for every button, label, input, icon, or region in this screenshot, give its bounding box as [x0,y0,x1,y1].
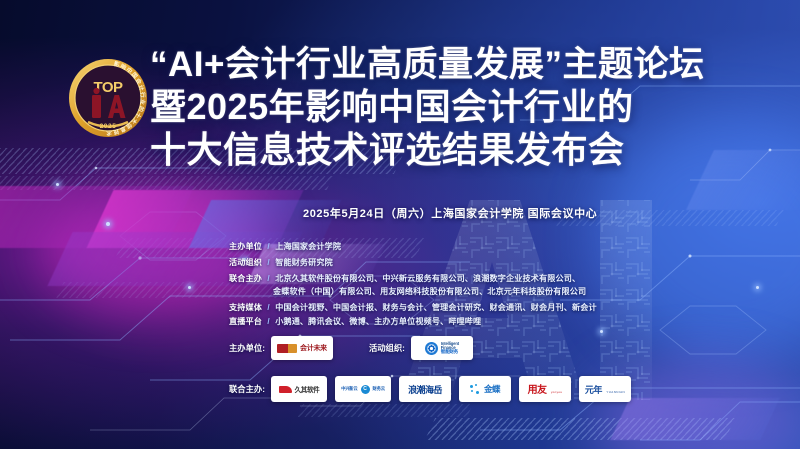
hatch-band-5 [425,418,735,440]
host-label: 主办单位: [229,342,265,354]
credit-key: 支持媒体 [229,303,262,312]
intelligent-finance-logo [425,342,438,355]
yuannian-logo-chip: 元年 YUANNIAN [579,376,631,402]
partners-label: 联合主办: [229,383,265,395]
event-poster: 影响中国会计行业的十大信息技术 TOP 2025 “AI+会计行业高质量发展”主… [0,0,800,449]
snai-logo-chip: 会计未来 [271,336,333,360]
credit-key: 联合主办 [229,274,262,283]
kingdee-logo-chip: 金蝶 [459,376,511,402]
organizer-label: 活动组织: [369,342,405,354]
credit-value: 金蝶软件（中国）有限公司、用友网络科技股份有限公司、北京元年科技股份有限公司 [273,287,586,296]
credit-row-continued: 金蝶软件（中国）有限公司、用友网络科技股份有限公司、北京元年科技股份有限公司 [229,285,649,298]
kingdee-logo [470,384,481,395]
credit-key: 直播平台 [229,317,262,326]
glow-dot [756,286,759,289]
accent-plate-1 [0,186,194,248]
credit-separator: / [267,317,269,326]
credit-separator: / [267,258,269,267]
zte-xinyun-logo-chip: 中兴新云 C 财务云 [335,376,391,402]
credit-separator: / [267,303,269,312]
if-cn: 智能财务 [441,350,459,355]
snai-logo-text: 会计未来 [300,343,327,353]
credit-value: 小鹅通、腾讯会议、微博、主办方单位视频号、哔哩哔哩 [275,317,481,326]
yuannian-logo-en: YUANNIAN [606,390,625,394]
headline-line-3: 十大信息技术评选结果发布会 [150,131,790,169]
credit-separator: / [267,274,269,283]
snai-logo [277,344,297,353]
credit-row: 主办单位 / 上海国家会计学院 [229,240,649,253]
jiuqi-logo-text: 久其软件 [295,384,320,394]
yonyou-logo-chip: 用友 yonyou [519,376,571,402]
svg-text:2025: 2025 [100,123,117,130]
kingdee-logo-text: 金蝶 [484,383,500,395]
partner-logo-row: 联合主办: 久其软件 中兴新云 C 财务云 浪潮海岳 [229,376,639,402]
glow-violet-bottom [590,360,800,449]
yuannian-logo-text: 元年 [585,385,602,395]
top-ia-award-emblem: 影响中国会计行业的十大信息技术 TOP 2025 [62,52,154,144]
zte-xinyun-logo: C [361,385,370,394]
jiuqi-logo-chip: 久其软件 [271,376,327,402]
credits-block: 主办单位 / 上海国家会计学院 活动组织 / 智能财务研究院 联合主办 / 北京… [229,240,649,328]
intelligent-finance-logo-chip: Intelligent Finance 智能财务 [411,336,473,360]
poster-headline: “AI+会计行业高质量发展”主题论坛 暨2025年影响中国会计行业的 十大信息技… [150,46,790,169]
zte-xinyun-sub-text: 财务云 [373,386,385,392]
date-venue-line: 2025年5月24日（周六）上海国家会计学院 国际会议中心 [303,205,597,221]
glow-dot [600,330,603,333]
credit-value: 上海国家会计学院 [275,242,341,251]
glow-dot [56,183,59,186]
zte-xinyun-logo-text: 中兴新云 [341,386,357,392]
inspur-haiyue-logo-chip: 浪潮海岳 [399,376,451,402]
host-organizer-logo-row: 主办单位: 会计未来 活动组织: Intelligent Finance 智能财… [229,336,473,360]
credit-row: 活动组织 / 智能财务研究院 [229,256,649,269]
credit-key: 活动组织 [229,258,262,267]
inspur-haiyue-logo-text: 浪潮海岳 [408,383,442,396]
glow-dot [106,222,110,226]
credit-key: 主办单位 [229,242,262,251]
credit-value: 中国会计视野、中国会计报、财务与会计、管理会计研究、财会通讯、财会月刊、新会计 [275,303,597,312]
credit-row: 支持媒体 / 中国会计视野、中国会计报、财务与会计、管理会计研究、财会通讯、财会… [229,301,649,314]
credit-row: 直播平台 / 小鹅通、腾讯会议、微博、主办方单位视频号、哔哩哔哩 [229,315,649,328]
hatch-band-2 [0,176,333,190]
hatch-band-7 [297,404,473,417]
accent-plate-6 [610,398,780,440]
headline-line-2: 暨2025年影响中国会计行业的 [150,88,790,126]
yonyou-logo-en: yonyou [551,390,562,394]
credit-value: 智能财务研究院 [275,258,333,267]
glow-dot [188,286,191,289]
credit-row: 联合主办 / 北京久其软件股份有限公司、中兴新云服务有限公司、浪潮数字企业技术有… [229,272,649,285]
headline-line-1: “AI+会计行业高质量发展”主题论坛 [150,46,790,83]
credit-value: 北京久其软件股份有限公司、中兴新云服务有限公司、浪潮数字企业技术有限公司、 [275,274,580,283]
yonyou-logo-text: 用友 [528,385,547,396]
credit-separator: / [267,242,269,251]
jiuqi-logo [279,386,292,393]
